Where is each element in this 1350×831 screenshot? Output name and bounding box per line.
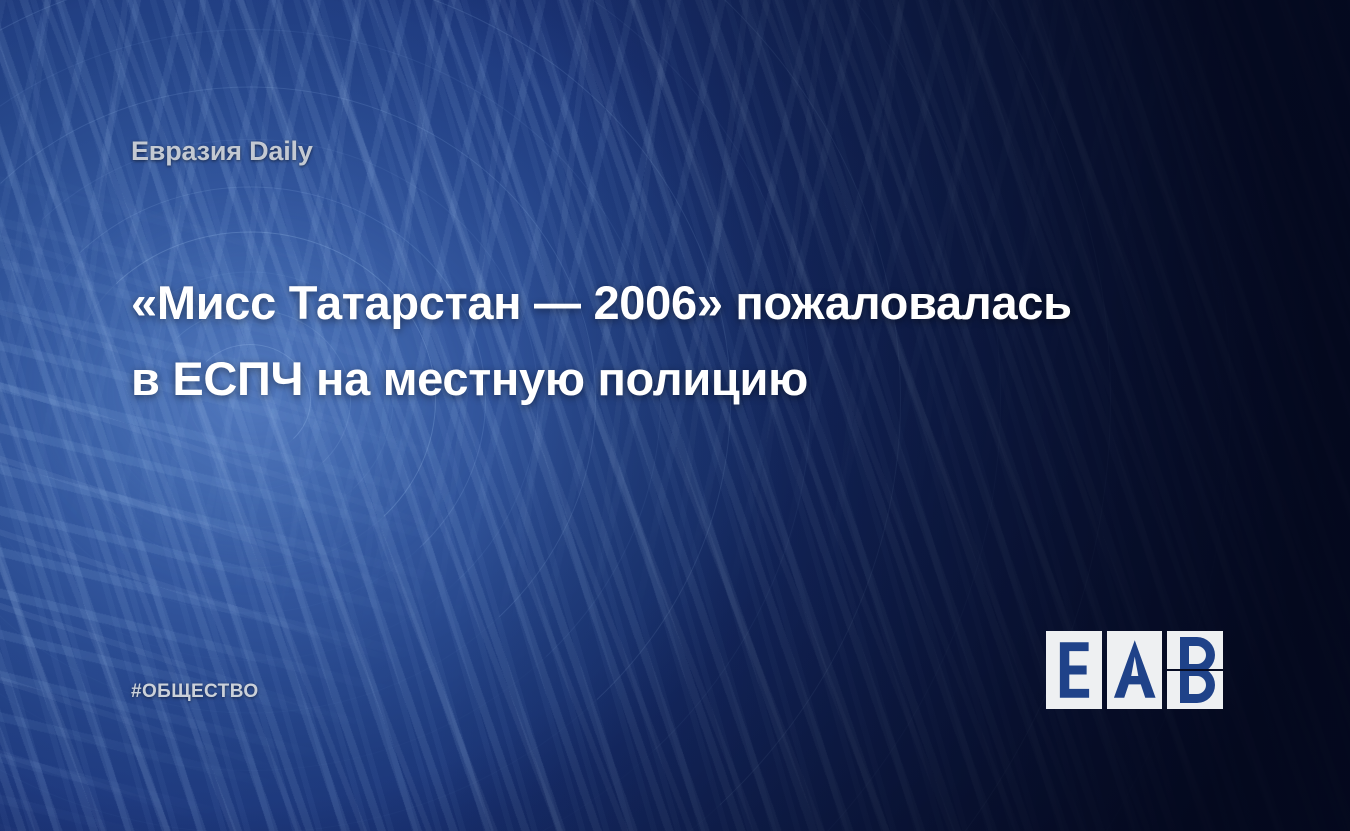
ead-logo xyxy=(1046,631,1223,709)
logo-tile-e xyxy=(1046,631,1102,709)
card-content: Евразия Daily «Мисс Татарстан — 2006» по… xyxy=(0,0,1350,831)
article-share-card: Евразия Daily «Мисс Татарстан — 2006» по… xyxy=(0,0,1350,831)
brand-wordmark: Евразия Daily xyxy=(131,136,313,167)
logo-tile-d-top xyxy=(1167,631,1223,669)
logo-tile-d-bottom xyxy=(1167,671,1223,709)
logo-tile-a xyxy=(1107,631,1163,709)
headline-line-2: в ЕСПЧ на местную полицию xyxy=(131,341,1251,417)
logo-tile-d xyxy=(1167,631,1223,709)
headline-line-1: «Мисс Татарстан — 2006» пожаловалась xyxy=(131,265,1251,341)
page-title: «Мисс Татарстан — 2006» пожаловалась в Е… xyxy=(131,265,1251,417)
category-tag[interactable]: #ОБЩЕСТВО xyxy=(131,681,259,703)
